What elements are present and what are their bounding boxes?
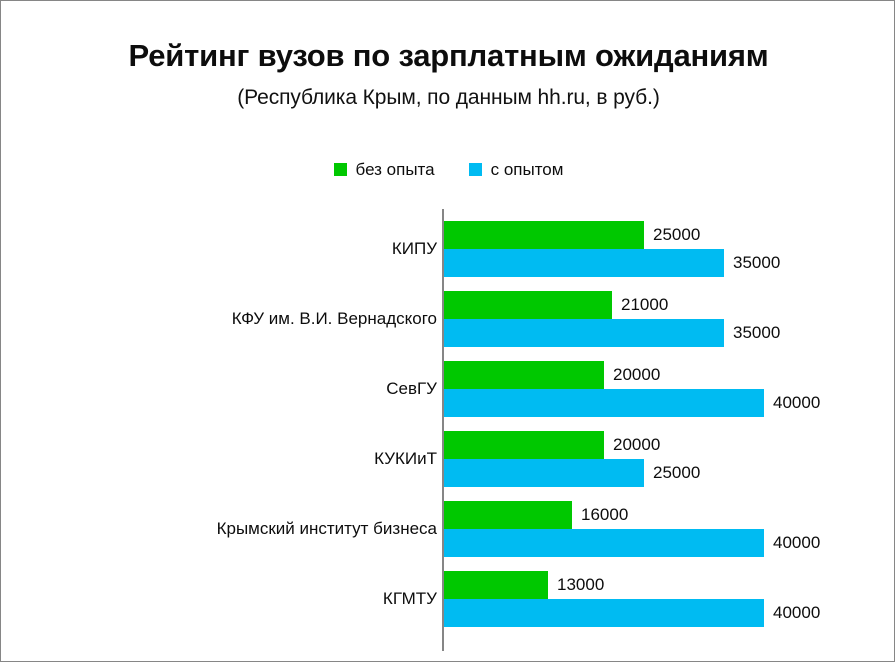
title-block: Рейтинг вузов по зарплатным ожиданиям (Р…	[1, 39, 895, 110]
legend-item-no-experience[interactable]: без опыта	[334, 161, 435, 178]
bar-value-label: 40000	[764, 389, 820, 417]
bar-value-label: 21000	[612, 291, 668, 319]
bar-group: КИПУ2500035000	[1, 221, 895, 277]
bar-with-experience[interactable]	[444, 389, 764, 417]
plot-area: КИПУ2500035000КФУ им. В.И. Вернадского21…	[1, 207, 895, 651]
category-label: Крымский институт бизнеса	[217, 501, 437, 557]
bar-group: КФУ им. В.И. Вернадского2100035000	[1, 291, 895, 347]
bar-with-experience[interactable]	[444, 529, 764, 557]
bar-no-experience[interactable]	[444, 571, 548, 599]
bar-value-label: 13000	[548, 571, 604, 599]
bar-value-label: 25000	[644, 221, 700, 249]
chart-subtitle: (Республика Крым, по данным hh.ru, в руб…	[1, 86, 895, 110]
bar-no-experience[interactable]	[444, 501, 572, 529]
bar-value-label: 40000	[764, 599, 820, 627]
bar-with-experience[interactable]	[444, 249, 724, 277]
bar-value-label: 16000	[572, 501, 628, 529]
chart-legend: без опыта с опытом	[1, 161, 895, 178]
bar-value-label: 20000	[604, 431, 660, 459]
bar-no-experience[interactable]	[444, 361, 604, 389]
bar-with-experience[interactable]	[444, 319, 724, 347]
chart-container: Рейтинг вузов по зарплатным ожиданиям (Р…	[0, 0, 895, 662]
bar-no-experience[interactable]	[444, 431, 604, 459]
bar-value-label: 35000	[724, 319, 780, 347]
bar-no-experience[interactable]	[444, 291, 612, 319]
bar-group: КГМТУ1300040000	[1, 571, 895, 627]
legend-swatch-icon	[469, 163, 482, 176]
bar-with-experience[interactable]	[444, 459, 644, 487]
bar-value-label: 20000	[604, 361, 660, 389]
category-label: КУКИиТ	[374, 431, 437, 487]
legend-item-with-experience[interactable]: с опытом	[469, 161, 564, 178]
bar-value-label: 40000	[764, 529, 820, 557]
category-label: КФУ им. В.И. Вернадского	[232, 291, 437, 347]
bar-group: Крымский институт бизнеса1600040000	[1, 501, 895, 557]
bar-group: СевГУ2000040000	[1, 361, 895, 417]
legend-swatch-icon	[334, 163, 347, 176]
category-label: КГМТУ	[383, 571, 437, 627]
bar-no-experience[interactable]	[444, 221, 644, 249]
legend-label-no-experience: без опыта	[356, 161, 435, 178]
bar-value-label: 35000	[724, 249, 780, 277]
chart-title: Рейтинг вузов по зарплатным ожиданиям	[1, 39, 895, 73]
category-label: КИПУ	[392, 221, 437, 277]
bar-value-label: 25000	[644, 459, 700, 487]
category-label: СевГУ	[386, 361, 437, 417]
bar-group: КУКИиТ2000025000	[1, 431, 895, 487]
legend-label-with-experience: с опытом	[491, 161, 564, 178]
bar-with-experience[interactable]	[444, 599, 764, 627]
